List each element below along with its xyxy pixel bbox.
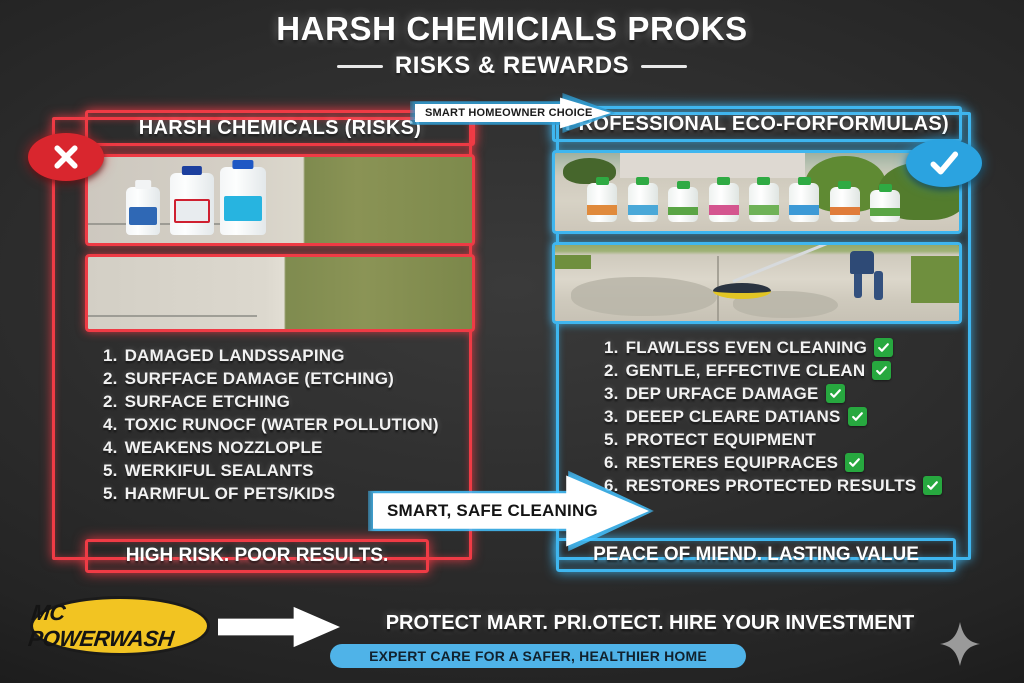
page-title: HARSH CHEMICIALS PROKS [0, 10, 1024, 48]
reward-item-label: DEEEP CLEARE DATIANS [626, 407, 841, 427]
risks-header-label: HARSH CHEMICALS (RISKS) [139, 117, 421, 140]
subtitle-row: RISKS & REWARDS [0, 52, 1024, 80]
risk-item-label: WERKIFUL SEALANTS [125, 461, 314, 481]
rule-left-decor [337, 65, 383, 68]
expert-care-label: EXPERT CARE FOR A SAFER, HEALTHIER HOME [369, 648, 707, 664]
risk-item-label: SURFFACE DAMAGE (ETCHING) [125, 369, 394, 389]
smart-safe-cleaning-arrow: SMART, SAFE CLEANING [373, 474, 649, 548]
check-mark-icon [826, 384, 845, 403]
list-item: 2. SURFFACE DAMAGE (ETCHING) [103, 367, 475, 390]
list-item: 4. TOXIC RUNOCF (WATER POLLUTION) [103, 413, 475, 436]
risks-photo-damaged-lawn [85, 254, 475, 332]
reward-item-label: GENTLE, EFFECTIVE CLEAN [626, 361, 866, 381]
reward-item-number: 1. [604, 338, 619, 358]
risk-item-number: 4. [103, 438, 118, 458]
bottom-brand-strip: MC POWERWASH PROTECT MART. PRI.OTECT. HI… [0, 586, 1024, 683]
risk-item-number: 1. [103, 346, 118, 366]
reward-item-number: 5. [604, 430, 619, 450]
rewards-photo-eco-bottles [552, 150, 962, 234]
rule-right-decor [641, 65, 687, 68]
reward-item-label: RESTORES PROTECTED RESULTS [626, 476, 917, 496]
rewards-list: 1. FLAWLESS EVEN CLEANING 2. GENTLE, EFF… [552, 336, 962, 497]
rewards-header-label: PROFESSIONAL ECO-FORFORMULAS) [565, 113, 949, 136]
list-item: 6. RESTERES EQUIPRACES [604, 451, 962, 474]
reward-item-number: 3. [604, 384, 619, 404]
risk-item-number: 5. [103, 484, 118, 504]
right-arrow-icon [218, 606, 340, 648]
risk-item-label: DAMAGED LANDSSAPING [125, 346, 345, 366]
sparkle-icon [938, 620, 982, 668]
list-item: 6. RESTORES PROTECTED RESULTS [604, 474, 962, 497]
list-item: 1. FLAWLESS EVEN CLEANING [604, 336, 962, 359]
list-item: 3. DEP URFACE DAMAGE [604, 382, 962, 405]
risks-panel: HARSH CHEMICALS (RISKS) [85, 110, 475, 505]
bottom-tagline: PROTECT MART. PRI.OTECT. HIRE YOUR INVES… [370, 612, 930, 635]
mid-arrow-label: SMART, SAFE CLEANING [387, 501, 598, 521]
expert-care-pill: EXPERT CARE FOR A SAFER, HEALTHIER HOME [330, 644, 746, 668]
list-item: 5. PROTECT EQUIPMENT [604, 428, 962, 451]
risk-item-label: WEAKENS NOZZLOPLE [125, 438, 323, 458]
check-mark-icon [845, 453, 864, 472]
risks-footer-label: HIGH RISK. POOR RESULTS. [126, 545, 389, 567]
risk-item-label: HARMFUL OF PETS/KIDS [125, 484, 336, 504]
reward-item-number: 2. [604, 361, 619, 381]
rewards-panel: PROFESSIONAL ECO-FORFORMULAS) [552, 106, 962, 497]
reward-item-number: 6. [604, 453, 619, 473]
reward-item-label: PROTECT EQUIPMENT [626, 430, 816, 450]
poster-title-block: HARSH CHEMICIALS PROKS RISKS & REWARDS [0, 10, 1024, 80]
risks-photo-chemical-jugs [85, 154, 475, 246]
smart-homeowner-choice-arrow: SMART HOMEOWNER CHOICE [415, 97, 611, 129]
reward-item-label: DEP URFACE DAMAGE [626, 384, 819, 404]
rewards-panel-header: PROFESSIONAL ECO-FORFORMULAS) [552, 106, 962, 142]
rewards-photo-surface-cleaning [552, 242, 962, 324]
infographic-poster: HARSH CHEMICIALS PROKS RISKS & REWARDS H… [0, 0, 1024, 683]
list-item: 4. WEAKENS NOZZLOPLE [103, 436, 475, 459]
mc-powerwash-logo: MC POWERWASH [30, 596, 210, 656]
check-mark-icon [872, 361, 891, 380]
x-mark-icon [28, 133, 104, 181]
list-item: 1. DAMAGED LANDSSAPING [103, 344, 475, 367]
reward-item-label: FLAWLESS EVEN CLEANING [626, 338, 867, 358]
list-item: 3. DEEEP CLEARE DATIANS [604, 405, 962, 428]
risk-item-number: 2. [103, 392, 118, 412]
risk-item-number: 5. [103, 461, 118, 481]
risk-item-number: 4. [103, 415, 118, 435]
logo-label: MC POWERWASH [26, 596, 213, 656]
top-arrow-label: SMART HOMEOWNER CHOICE [425, 107, 593, 119]
list-item: 2. SURFACE ETCHING [103, 390, 475, 413]
check-mark-icon [848, 407, 867, 426]
check-mark-icon [874, 338, 893, 357]
risk-item-label: TOXIC RUNOCF (WATER POLLUTION) [125, 415, 439, 435]
risk-item-label: SURFACE ETCHING [125, 392, 290, 412]
risk-item-number: 2. [103, 369, 118, 389]
reward-item-number: 3. [604, 407, 619, 427]
reward-item-label: RESTERES EQUIPRACES [626, 453, 839, 473]
page-subtitle: RISKS & REWARDS [395, 52, 629, 80]
check-mark-badge-icon [906, 139, 982, 187]
list-item: 2. GENTLE, EFFECTIVE CLEAN [604, 359, 962, 382]
check-mark-icon [923, 476, 942, 495]
